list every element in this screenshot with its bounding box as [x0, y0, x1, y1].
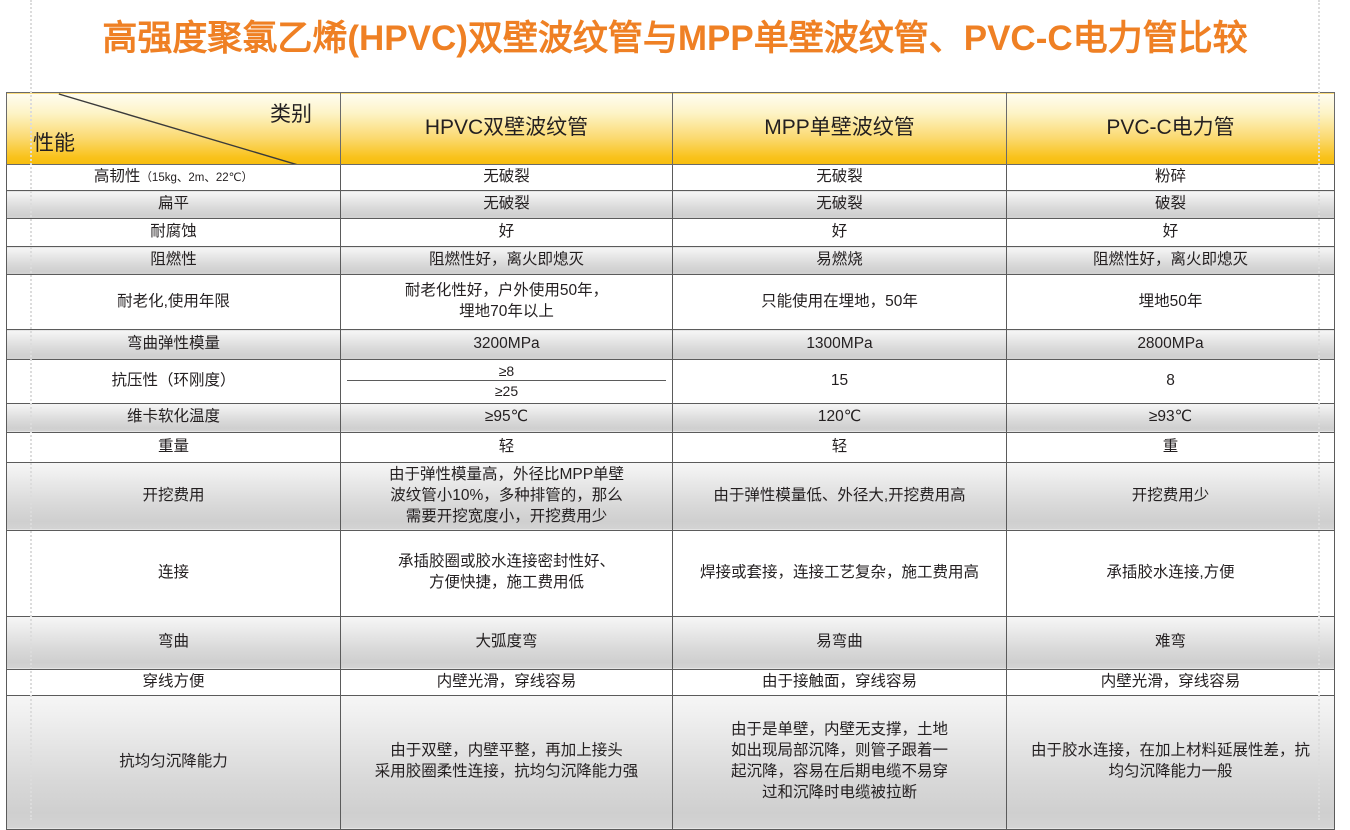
table-header-row: 类别 性能 HPVC双壁波纹管 MPP单壁波纹管 PVC-C电力管 [7, 93, 1335, 165]
cell-hpvc: ≥95℃ [341, 403, 673, 432]
table-row: 扁平 无破裂 无破裂 破裂 [7, 191, 1335, 219]
cell-mpp: 只能使用在埋地，50年 [673, 275, 1007, 330]
property-note-text: （15kg、2m、22℃） [140, 172, 253, 184]
comparison-table: 类别 性能 HPVC双壁波纹管 MPP单壁波纹管 PVC-C电力管 高韧性（15… [6, 92, 1335, 830]
comparison-table-wrapper: 类别 性能 HPVC双壁波纹管 MPP单壁波纹管 PVC-C电力管 高韧性（15… [6, 92, 1334, 830]
row-property-label: 阻燃性 [7, 247, 341, 275]
cell-mpp: 焊接或套接，连接工艺复杂，施工费用高 [673, 530, 1007, 616]
cell-text-line: 方便快捷，施工费用低 [347, 573, 666, 594]
table-row: 弯曲 大弧度弯 易弯曲 难弯 [7, 616, 1335, 669]
cell-pvcc: 难弯 [1007, 616, 1335, 669]
row-property-label: 扁平 [7, 191, 341, 219]
cell-text-line: 均匀沉降能力一般 [1013, 762, 1328, 783]
column-header-mpp: MPP单壁波纹管 [673, 93, 1007, 165]
cell-text-line: 耐老化性好，户外使用50年， [347, 281, 666, 302]
row-property-label: 高韧性（15kg、2m、22℃） [7, 165, 341, 191]
cell-mpp: 由于弹性模量低、外径大,开挖费用高 [673, 462, 1007, 530]
cell-text-line: 承插胶圈或胶水连接密封性好、 [347, 552, 666, 573]
cell-mpp: 轻 [673, 432, 1007, 462]
header-corner-cell: 类别 性能 [7, 93, 341, 165]
row-property-label: 耐老化,使用年限 [7, 275, 341, 330]
table-row: 高韧性（15kg、2m、22℃） 无破裂 无破裂 粉碎 [7, 165, 1335, 191]
cell-mpp: 120℃ [673, 403, 1007, 432]
cell-hpvc: 大弧度弯 [341, 616, 673, 669]
cell-pvcc: 破裂 [1007, 191, 1335, 219]
row-property-label: 穿线方便 [7, 669, 341, 695]
page-title-text: 高强度聚氯乙烯(HPVC)双壁波纹管与MPP单壁波纹管、PVC-C电力管比较 [102, 20, 1247, 59]
row-property-label: 抗压性（环刚度） [7, 360, 341, 404]
table-row: 耐腐蚀 好 好 好 [7, 219, 1335, 247]
cell-text-line: 由于胶水连接，在加上材料延展性差，抗 [1013, 741, 1328, 762]
cell-hpvc-sub-top: ≥8 [347, 362, 666, 381]
table-row: 耐老化,使用年限 耐老化性好，户外使用50年， 埋地70年以上 只能使用在埋地，… [7, 275, 1335, 330]
cell-hpvc: 3200MPa [341, 330, 673, 360]
cell-pvcc: 8 [1007, 360, 1335, 404]
cell-mpp: 易燃烧 [673, 247, 1007, 275]
cell-pvcc: 由于胶水连接，在加上材料延展性差，抗 均匀沉降能力一般 [1007, 695, 1335, 829]
page-title: 高强度聚氯乙烯(HPVC)双壁波纹管与MPP单壁波纹管、PVC-C电力管比较 [0, 8, 1350, 70]
cell-pvcc: 好 [1007, 219, 1335, 247]
table-row: 抗均匀沉降能力 由于双壁，内壁平整，再加上接头 采用胶圈柔性连接，抗均匀沉降能力… [7, 695, 1335, 829]
row-property-label: 弯曲弹性模量 [7, 330, 341, 360]
row-property-label: 维卡软化温度 [7, 403, 341, 432]
row-property-label: 连接 [7, 530, 341, 616]
row-property-label: 开挖费用 [7, 462, 341, 530]
cell-text-line: 埋地70年以上 [347, 302, 666, 323]
cell-text-line: 波纹管小10%，多种排管的，那么 [347, 486, 666, 507]
cell-hpvc: 轻 [341, 432, 673, 462]
table-row: 连接 承插胶圈或胶水连接密封性好、 方便快捷，施工费用低 焊接或套接，连接工艺复… [7, 530, 1335, 616]
table-row: 阻燃性 阻燃性好，离火即熄灭 易燃烧 阻燃性好，离火即熄灭 [7, 247, 1335, 275]
cell-pvcc: 内壁光滑，穿线容易 [1007, 669, 1335, 695]
row-property-label: 耐腐蚀 [7, 219, 341, 247]
cell-hpvc-split: ≥8 ≥25 [341, 360, 673, 404]
cell-hpvc: 阻燃性好，离火即熄灭 [341, 247, 673, 275]
cell-hpvc-sub-bottom: ≥25 [347, 381, 666, 400]
cell-text-line: 由于弹性模量高，外径比MPP单壁 [347, 465, 666, 486]
column-header-pvcc: PVC-C电力管 [1007, 93, 1335, 165]
cell-mpp: 易弯曲 [673, 616, 1007, 669]
property-main-text: 高韧性 [94, 168, 141, 185]
cell-text-line: 由于是单壁，内壁无支撑，土地 [679, 720, 1000, 741]
cell-hpvc: 无破裂 [341, 191, 673, 219]
cell-hpvc: 好 [341, 219, 673, 247]
table-row: 维卡软化温度 ≥95℃ 120℃ ≥93℃ [7, 403, 1335, 432]
cell-pvcc: 重 [1007, 432, 1335, 462]
table-row: 穿线方便 内壁光滑，穿线容易 由于接触面，穿线容易 内壁光滑，穿线容易 [7, 669, 1335, 695]
cell-text-line: 过和沉降时电缆被拉断 [679, 783, 1000, 804]
cell-hpvc: 承插胶圈或胶水连接密封性好、 方便快捷，施工费用低 [341, 530, 673, 616]
cell-mpp: 由于是单壁，内壁无支撑，土地 如出现局部沉降，则管子跟着一 起沉降，容易在后期电… [673, 695, 1007, 829]
cell-mpp: 无破裂 [673, 165, 1007, 191]
corner-row-axis-label: 性能 [33, 130, 75, 158]
row-property-label: 弯曲 [7, 616, 341, 669]
cell-mpp: 15 [673, 360, 1007, 404]
cell-text-line: 采用胶圈柔性连接，抗均匀沉降能力强 [347, 762, 666, 783]
cell-pvcc: 2800MPa [1007, 330, 1335, 360]
cell-pvcc: 阻燃性好，离火即熄灭 [1007, 247, 1335, 275]
table-row: 重量 轻 轻 重 [7, 432, 1335, 462]
cell-mpp: 无破裂 [673, 191, 1007, 219]
cell-text-line: 由于双壁，内壁平整，再加上接头 [347, 741, 666, 762]
cell-mpp: 由于接触面，穿线容易 [673, 669, 1007, 695]
cell-hpvc: 耐老化性好，户外使用50年， 埋地70年以上 [341, 275, 673, 330]
column-header-hpvc: HPVC双壁波纹管 [341, 93, 673, 165]
cell-hpvc: 内壁光滑，穿线容易 [341, 669, 673, 695]
corner-column-axis-label: 类别 [270, 101, 312, 129]
cell-pvcc: 承插胶水连接,方便 [1007, 530, 1335, 616]
cell-mpp: 好 [673, 219, 1007, 247]
cell-pvcc: 粉碎 [1007, 165, 1335, 191]
cell-mpp: 1300MPa [673, 330, 1007, 360]
row-property-label: 重量 [7, 432, 341, 462]
cell-text-line: 起沉降，容易在后期电缆不易穿 [679, 762, 1000, 783]
table-row: 抗压性（环刚度） ≥8 ≥25 15 8 [7, 360, 1335, 404]
cell-text-line: 需要开挖宽度小，开挖费用少 [347, 507, 666, 528]
cell-hpvc: 由于弹性模量高，外径比MPP单壁 波纹管小10%，多种排管的，那么 需要开挖宽度… [341, 462, 673, 530]
cell-pvcc: 埋地50年 [1007, 275, 1335, 330]
cell-hpvc: 由于双壁，内壁平整，再加上接头 采用胶圈柔性连接，抗均匀沉降能力强 [341, 695, 673, 829]
table-row: 开挖费用 由于弹性模量高，外径比MPP单壁 波纹管小10%，多种排管的，那么 需… [7, 462, 1335, 530]
row-property-label: 抗均匀沉降能力 [7, 695, 341, 829]
cell-pvcc: ≥93℃ [1007, 403, 1335, 432]
table-row: 弯曲弹性模量 3200MPa 1300MPa 2800MPa [7, 330, 1335, 360]
corner-diagonal-container: 类别 性能 [7, 93, 340, 164]
cell-pvcc: 开挖费用少 [1007, 462, 1335, 530]
cell-hpvc: 无破裂 [341, 165, 673, 191]
cell-text-line: 如出现局部沉降，则管子跟着一 [679, 741, 1000, 762]
